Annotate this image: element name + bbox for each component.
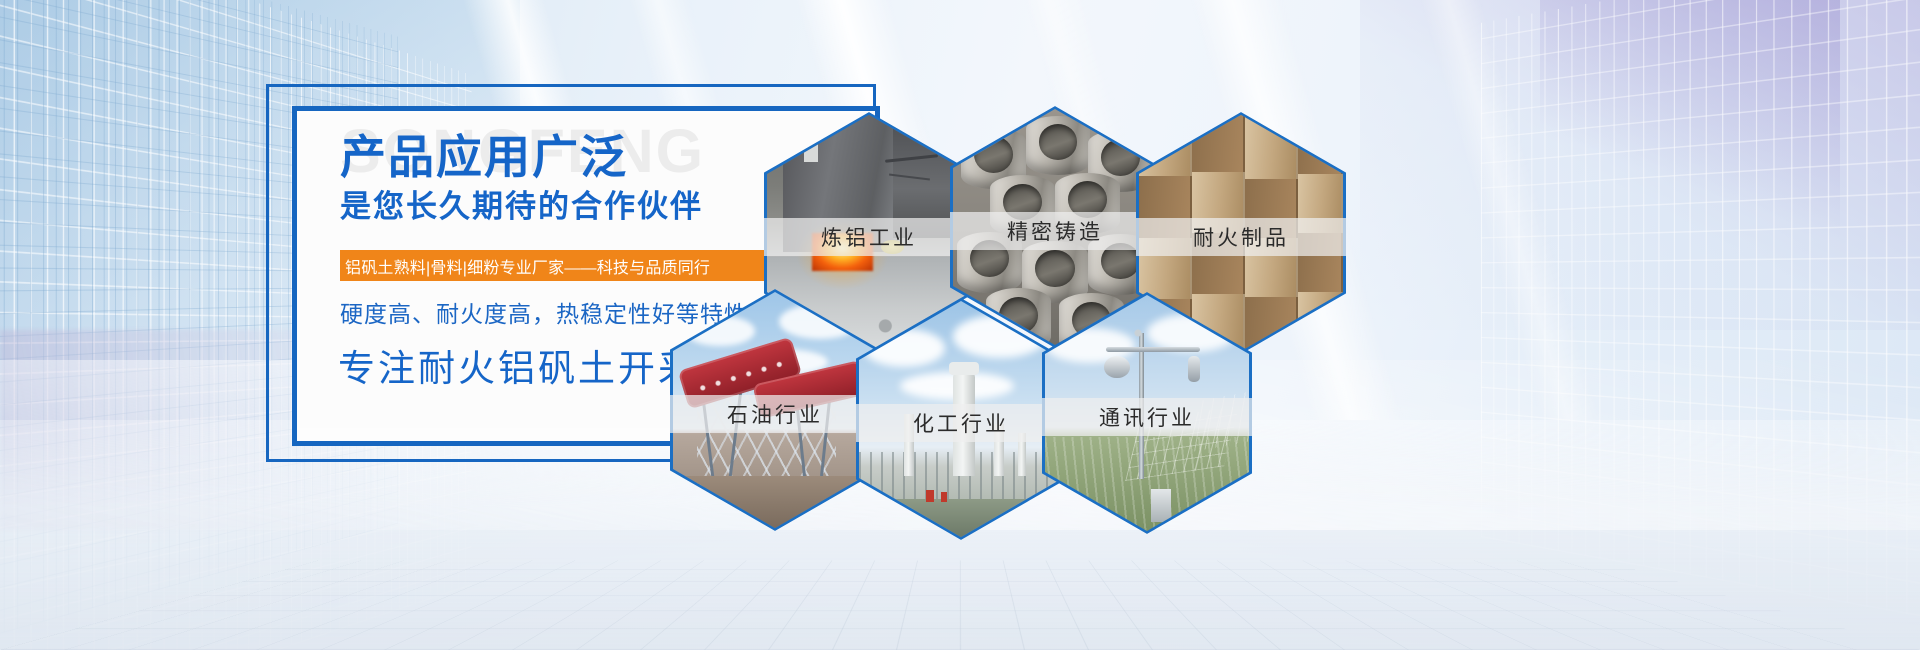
hex-label: 精密铸造 — [950, 212, 1160, 250]
tagline-text: 铝矾土熟料|骨料|细粉专业厂家——科技与品质同行 — [340, 254, 710, 278]
page-title: 产品应用广泛 — [340, 134, 628, 180]
hex-label: 耐火制品 — [1136, 218, 1346, 256]
plaza-floor-tiles — [0, 561, 1920, 650]
industry-hexagon-grid: 炼铝工业 精密铸造 — [760, 86, 1460, 566]
promotional-banner: SONGFENG 产品应用广泛 是您长久期待的合作伙伴 铝矾土熟料|骨料|细粉专… — [0, 0, 1920, 650]
hex-label: 通讯行业 — [1042, 398, 1252, 436]
tagline-band: 铝矾土熟料|骨料|细粉专业厂家——科技与品质同行 — [340, 250, 764, 281]
feature-text: 硬度高、耐火度高，热稳定性好等特性 — [340, 303, 748, 326]
hex-label: 炼铝工业 — [764, 218, 974, 256]
subtitle: 是您长久期待的合作伙伴 — [340, 191, 703, 222]
hex-label: 化工行业 — [856, 404, 1066, 442]
hex-label: 石油行业 — [670, 395, 880, 433]
